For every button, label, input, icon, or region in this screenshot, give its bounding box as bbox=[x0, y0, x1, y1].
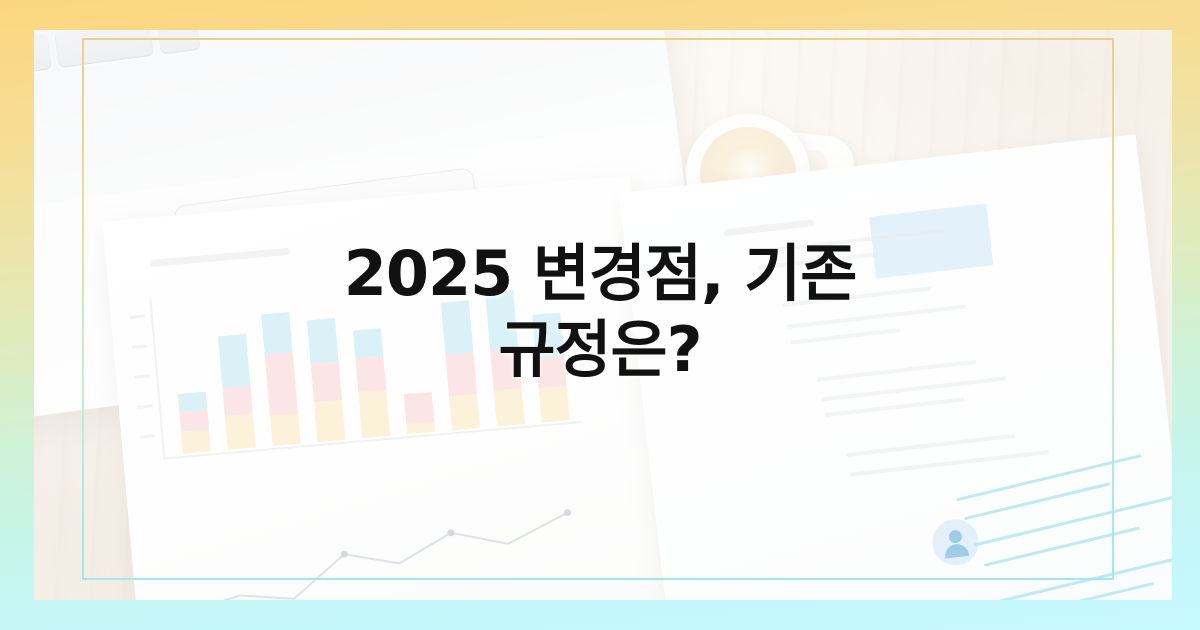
chart-bar-segment-pink bbox=[179, 410, 209, 432]
chart-y-tick bbox=[129, 315, 145, 319]
doc-text-line bbox=[846, 434, 1015, 457]
chart-bar-segment-cyan bbox=[218, 334, 250, 388]
chart-bar-segment-yellow bbox=[406, 422, 435, 434]
chart-bar-segment-yellow bbox=[539, 386, 570, 422]
chart-bar bbox=[261, 312, 300, 446]
doc-text-line bbox=[791, 328, 901, 344]
doc-text-line bbox=[758, 252, 878, 270]
chart-bar bbox=[353, 328, 390, 438]
chart-bar-segment-pink bbox=[222, 386, 252, 416]
document-right bbox=[619, 134, 1172, 600]
doc-text-line bbox=[825, 397, 965, 417]
avatar-body bbox=[944, 543, 969, 559]
chart-bar bbox=[485, 290, 525, 426]
chart-bar-segment-cyan bbox=[441, 300, 473, 354]
background-photo: D F G H J X C V B N Z A S bbox=[34, 30, 1172, 600]
doc-text-line bbox=[787, 305, 966, 329]
doc-heading-placeholder bbox=[724, 219, 814, 236]
chart-y-tick bbox=[134, 374, 150, 378]
document-left bbox=[103, 176, 672, 600]
chart-bar bbox=[178, 392, 211, 454]
doc-text-line bbox=[782, 286, 931, 307]
doc-text-line bbox=[821, 376, 1006, 401]
doc-heading-placeholder bbox=[150, 248, 290, 267]
chart-bar-segment-yellow bbox=[358, 390, 390, 438]
stacked-bar-chart bbox=[169, 260, 581, 454]
chart-bar-segment-yellow bbox=[181, 429, 211, 453]
chart-y-tick bbox=[131, 345, 147, 349]
doc-text-line bbox=[850, 450, 1049, 477]
doc-text-line bbox=[817, 360, 976, 382]
chart-bar-segment-yellow bbox=[270, 414, 301, 446]
chart-bar-segment-pink bbox=[311, 362, 342, 402]
chart-bar-segment-yellow bbox=[225, 414, 256, 450]
avatar-icon bbox=[930, 517, 981, 568]
doc-blue-rule bbox=[984, 527, 1140, 567]
thumbnail-canvas: D F G H J X C V B N Z A S bbox=[0, 0, 1200, 630]
chart-bar-segment-cyan bbox=[353, 328, 383, 358]
chart-bar-segment-pink bbox=[490, 348, 521, 390]
chart-bar bbox=[307, 318, 346, 442]
chart-bar bbox=[404, 392, 435, 434]
chart-bar-segment-pink bbox=[265, 352, 298, 416]
doc-blue-rule bbox=[1008, 582, 1155, 600]
chart-bar bbox=[441, 300, 480, 430]
avatar-head bbox=[948, 530, 962, 544]
chart-bar-segment-pink bbox=[404, 392, 435, 424]
chart-bar-segment-yellow bbox=[449, 394, 480, 430]
chart-bar-segment-cyan bbox=[307, 318, 339, 364]
chart-bar-segment-pink bbox=[355, 356, 386, 392]
chart-bar bbox=[532, 312, 569, 422]
chart-bar-segment-yellow bbox=[494, 388, 525, 426]
doc-blue-rule bbox=[964, 482, 1111, 520]
chart-y-tick bbox=[137, 404, 153, 408]
chart-bar-segment-cyan bbox=[261, 312, 292, 354]
doc-blue-rule bbox=[973, 496, 1172, 547]
chart-y-tick bbox=[139, 434, 155, 438]
chart-bar bbox=[218, 334, 256, 450]
chart-bar-segment-pink bbox=[445, 352, 477, 396]
doc-accent-block bbox=[869, 204, 993, 279]
chart-bar-segment-yellow bbox=[314, 400, 345, 442]
keyboard-key: S bbox=[34, 33, 52, 74]
chart-bar-segment-cyan bbox=[532, 312, 564, 358]
doc-blue-rule bbox=[998, 557, 1172, 600]
chart-bar-segment-pink bbox=[536, 356, 567, 388]
line-chart bbox=[174, 480, 603, 600]
chart-bar-segment-cyan bbox=[485, 290, 518, 350]
